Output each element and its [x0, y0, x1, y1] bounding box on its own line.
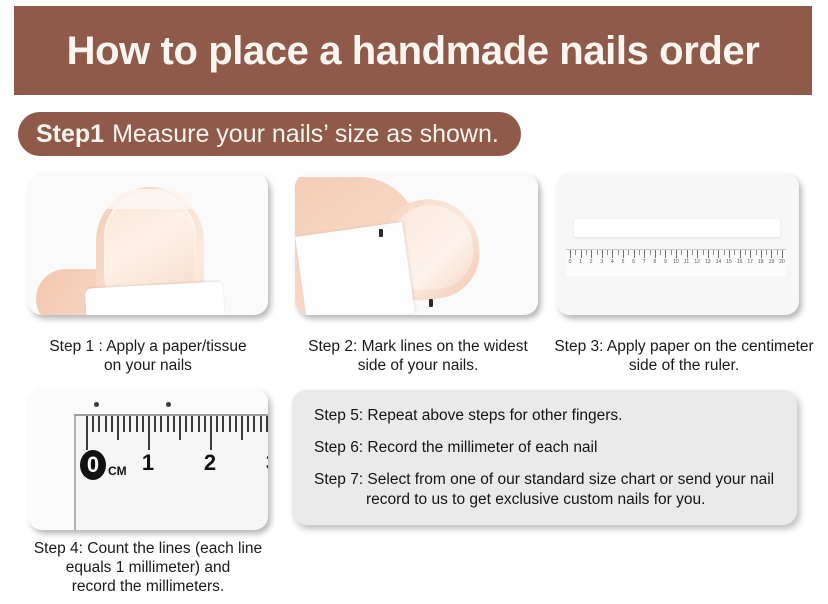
pen-mark-dot-icon [429, 299, 433, 307]
ruler-number: 2 [590, 259, 593, 265]
step1-label: Step1 [36, 122, 104, 147]
ruler-tick [260, 416, 262, 432]
paper-strip-shape [295, 222, 415, 315]
ruler-tick [229, 416, 231, 432]
page-title: How to place a handmade nails order [67, 31, 760, 71]
pen-mark-dot-icon [94, 402, 99, 407]
ruler-number: 20 [779, 259, 785, 265]
caption-step-3-line-2: side of the ruler. [629, 357, 739, 374]
info-step-6-text: Step 6: Record the millimeter of each na… [314, 439, 597, 456]
ruler-number: 13 [705, 259, 711, 265]
steps-info-panel: Step 5: Repeat above steps for other fin… [292, 390, 797, 525]
ruler-number: 15 [726, 259, 732, 265]
caption-step-1-line-2: on your nails [104, 357, 192, 374]
ruler-tick [129, 416, 131, 432]
ruler-number: 6 [632, 259, 635, 265]
ruler-tick [204, 416, 206, 432]
caption-step-2-line-2: side of your nails. [358, 357, 479, 374]
info-line-step-6: Step 6: Record the millimeter of each na… [314, 438, 779, 458]
ruler-number: 18 [758, 259, 764, 265]
ruler-number: 14 [716, 259, 722, 265]
caption-step-4-line-1: Step 4: Count the lines (each line [34, 540, 262, 557]
caption-step-4-line-2: equals 1 millimeter) and [8, 558, 288, 577]
ruler-number: 11 [684, 259, 689, 265]
pen-mark-dot-icon [166, 402, 171, 407]
step1-instruction-text: Measure your nails’ size as shown. [112, 122, 499, 147]
ruler-number: 10 [673, 259, 679, 265]
caption-step-1: Step 1 : Apply a paper/tissue on your na… [10, 337, 286, 375]
fingers-marking-paper-photo [295, 173, 538, 315]
ruler-tick [235, 416, 237, 432]
info-step-7-text: Step 7: Select from one of our standard … [314, 471, 774, 488]
caption-step-4: Step 4: Count the lines (each line equal… [8, 539, 288, 596]
ruler-tick [247, 416, 249, 432]
ruler-tick [266, 416, 268, 432]
ruler-tick [167, 416, 169, 432]
caption-step-2-line-1: Step 2: Mark lines on the widest [308, 338, 528, 355]
finger-with-paper-strip-photo [28, 173, 268, 315]
paper-strip-shape [574, 219, 780, 237]
ruler-number: 4 [611, 259, 614, 265]
ruler-horizontal-edge [74, 414, 268, 416]
ruler-tick [216, 416, 218, 432]
ruler-tick [136, 416, 138, 432]
photo-card-step-4: 0 CM 123 [28, 388, 268, 530]
ruler-tick [92, 416, 94, 432]
caption-step-1-line-1: Step 1 : Apply a paper/tissue [49, 338, 246, 355]
ruler-shape: 01234567891011121314151617181920 [566, 249, 786, 276]
ruler-number: 1 [579, 259, 582, 265]
ruler-body-shape [76, 416, 268, 530]
ruler-tick [222, 416, 224, 432]
ruler-tick [86, 416, 88, 450]
ruler-tick [154, 416, 156, 432]
caption-step-3-line-1: Step 3: Apply paper on the centimeter [554, 338, 813, 355]
ruler-number: 3 [266, 450, 268, 476]
ruler-number: 9 [664, 259, 667, 265]
ruler-tick [160, 416, 162, 432]
ruler-number: 16 [737, 259, 743, 265]
ruler-tick [142, 416, 144, 432]
ruler-zero-badge: 0 [80, 450, 106, 480]
page-header-banner: How to place a handmade nails order [14, 6, 812, 95]
caption-step-2: Step 2: Mark lines on the widest side of… [282, 337, 554, 375]
ruler-number: 0 [569, 259, 572, 265]
info-step-7-text-wrap: record to us to get exclusive custom nai… [314, 490, 779, 510]
photo-card-step-2 [295, 173, 538, 315]
info-step-5-text: Step 5: Repeat above steps for other fin… [314, 407, 622, 424]
ruler-number: 17 [747, 259, 753, 265]
ruler-number: 3 [600, 259, 603, 265]
info-line-step-7: Step 7: Select from one of our standard … [314, 470, 779, 510]
ruler-tick [198, 416, 200, 432]
ruler-tick [148, 416, 150, 450]
step1-banner-pill: Step1 Measure your nails’ size as shown. [18, 112, 521, 156]
ruler-tick [253, 416, 255, 432]
ruler-tick [98, 416, 100, 432]
ruler-closeup-photo: 0 CM 123 [28, 388, 268, 530]
caption-step-3: Step 3: Apply paper on the centimeter si… [548, 337, 820, 375]
ruler-tick [210, 416, 212, 450]
caption-step-4-line-3: record the millimeters. [8, 577, 288, 596]
nail-tip-shape [106, 189, 194, 209]
ruler-number: 12 [694, 259, 700, 265]
ruler-number: 8 [653, 259, 656, 265]
ruler-tick [185, 416, 187, 432]
ruler-tick [123, 416, 125, 432]
ruler-number: 5 [622, 259, 625, 265]
ruler-tick [173, 416, 175, 432]
ruler-number: 1 [142, 450, 154, 476]
ruler-tick [179, 416, 181, 440]
ruler-tick [191, 416, 193, 432]
ruler-number: 19 [769, 259, 775, 265]
ruler-tick [117, 416, 119, 440]
photo-card-step-3: 01234567891011121314151617181920 [556, 173, 799, 315]
pen-mark-dot-icon [379, 229, 383, 237]
ruler-tick [105, 416, 107, 432]
ruler-vertical-edge [74, 414, 76, 530]
ruler-tick [111, 416, 113, 432]
photo-card-step-1 [28, 173, 268, 315]
ruler-number: 7 [643, 259, 646, 265]
ruler-tick [241, 416, 243, 440]
info-line-step-5: Step 5: Repeat above steps for other fin… [314, 406, 779, 426]
paper-strip-on-ruler-photo: 01234567891011121314151617181920 [556, 173, 799, 315]
ruler-unit-label: CM [108, 464, 127, 478]
ruler-number: 2 [204, 450, 216, 476]
